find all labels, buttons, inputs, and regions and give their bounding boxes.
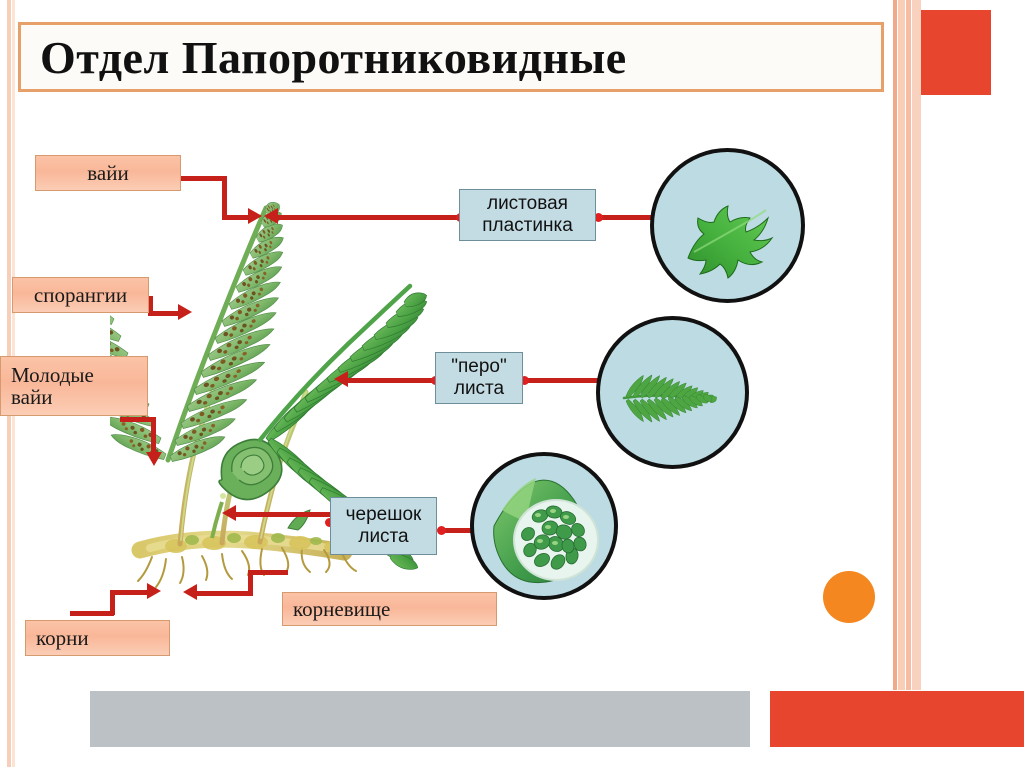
connector-blade-left-arrow — [264, 208, 278, 224]
connector-young-v — [151, 417, 156, 453]
label-sporangii-text: спорангии — [34, 283, 127, 308]
label-vayi-text: вайи — [87, 161, 128, 186]
connector-korni-arrow — [147, 583, 161, 599]
magnifier-petiole-section — [470, 452, 618, 600]
connector-pero-right-h — [524, 378, 600, 383]
rhizome-and-roots — [138, 533, 356, 587]
label-kornevishche[interactable]: корневище — [282, 592, 497, 626]
right-stripe-decor-4 — [912, 0, 921, 690]
label-listovaya-plastinka-line1: листовая — [487, 193, 568, 214]
connector-blade-right-h — [598, 215, 654, 220]
label-pero-lista-line2: листа — [454, 378, 504, 399]
label-korni[interactable]: корни — [25, 620, 170, 656]
connector-kornevishche-h1 — [190, 591, 252, 596]
slide-canvas: Отдел Папоротниковидные — [0, 0, 1024, 767]
connector-kornevishche-arrow — [183, 584, 197, 600]
label-sporangii[interactable]: спорангии — [12, 277, 149, 313]
label-pero-lista-text: "перо" листа — [451, 356, 506, 400]
label-molodye-vayi-text: Молодые вайи — [11, 364, 94, 408]
right-stripe-decor-3 — [906, 0, 911, 690]
connector-petiole-left-arrow — [222, 505, 236, 521]
connector-korni-h1 — [70, 611, 114, 616]
label-listovaya-plastinka-text: листовая пластинка — [482, 193, 573, 237]
label-molodye-vayi[interactable]: Молодые вайи — [0, 356, 148, 416]
page-title: Отдел Папоротниковидные — [40, 26, 890, 90]
right-stripe-decor-1 — [893, 0, 897, 690]
label-listovaya-plastinka[interactable]: листовая пластинка — [459, 189, 596, 241]
label-listovaya-plastinka-line2: пластинка — [482, 215, 573, 236]
connector-pero-left-h — [345, 378, 435, 383]
label-chereshok-lista-line2: листа — [358, 526, 408, 547]
connector-kornevishche-h2 — [248, 570, 288, 575]
label-pero-lista-line1: "перо" — [451, 356, 506, 377]
connector-korni-h2 — [110, 590, 150, 595]
orange-circle-decor — [823, 571, 875, 623]
magnifier-leaf-blade — [650, 148, 805, 303]
connector-young-arrow — [146, 452, 162, 466]
fertile-frond-with-sporangia — [110, 199, 286, 464]
connector-vayi-v — [222, 176, 227, 218]
label-pero-lista[interactable]: "перо" листа — [435, 352, 523, 404]
label-molodye-vayi-line1: Молодые — [11, 363, 94, 387]
label-chereshok-lista-line1: черешок — [346, 504, 422, 525]
label-vayi[interactable]: вайи — [35, 155, 181, 191]
label-kornevishche-text: корневище — [293, 597, 390, 622]
fern-pinna-feather-icon — [600, 320, 749, 469]
label-chereshok-lista-text: черешок листа — [346, 504, 422, 548]
red-bar-decor — [770, 691, 1024, 747]
label-molodye-vayi-line2: вайи — [11, 385, 52, 409]
gray-bar-decor — [90, 691, 750, 747]
connector-petiole-left-h — [232, 512, 332, 517]
red-square-decor — [921, 10, 991, 95]
connector-sporangii-arrow — [178, 304, 192, 320]
connector-vayi-h2 — [222, 215, 250, 220]
petiole-cross-section-icon — [474, 456, 618, 600]
connector-pero-left-arrow — [334, 371, 348, 387]
label-chereshok-lista[interactable]: черешок листа — [330, 497, 437, 555]
connector-vayi-h1 — [180, 176, 227, 181]
fern-leaf-blade-icon — [654, 152, 805, 303]
right-stripe-decor-2 — [898, 0, 905, 690]
connector-blade-left-h — [275, 215, 460, 220]
magnifier-pinna — [596, 316, 749, 469]
label-korni-text: корни — [36, 626, 89, 651]
connector-vayi-arrow — [248, 208, 262, 224]
connector-petiole-right-dot — [437, 526, 446, 535]
